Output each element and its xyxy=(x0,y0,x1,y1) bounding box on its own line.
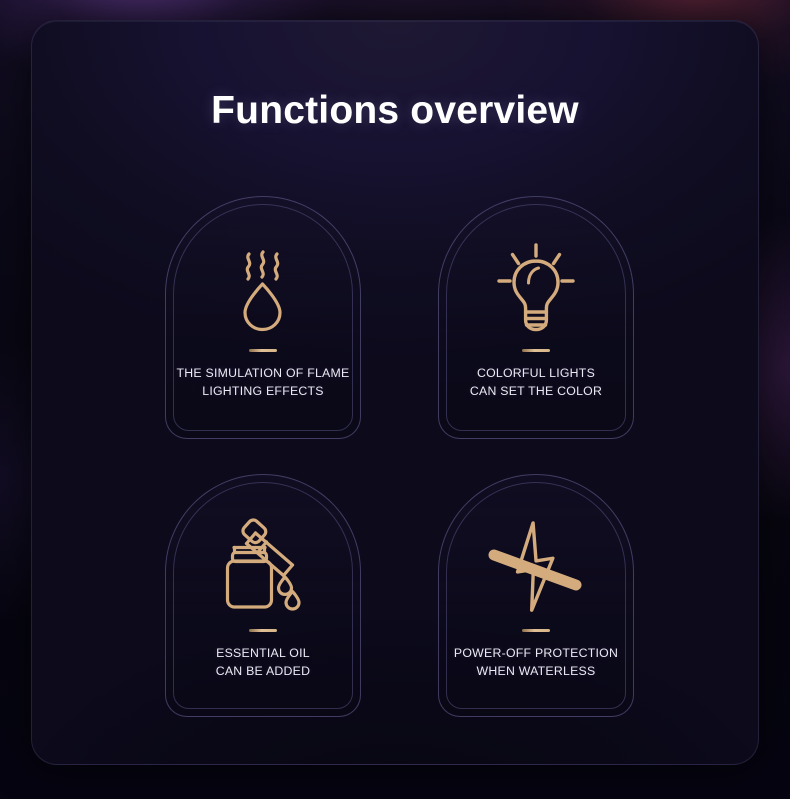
card-divider xyxy=(249,349,277,352)
function-card-flame-simulation[interactable]: THE SIMULATION OF FLAME LIGHTING EFFECTS xyxy=(165,196,361,439)
card-caption-line1: THE SIMULATION OF FLAME xyxy=(177,365,350,383)
page-root: Functions overview xyxy=(0,0,790,799)
function-card-power-off-protection[interactable]: POWER-OFF PROTECTION WHEN WATERLESS xyxy=(438,474,634,717)
oil-dropper-icon xyxy=(213,519,313,615)
functions-overview-panel: Functions overview xyxy=(31,20,759,765)
card-divider xyxy=(249,629,277,632)
card-caption-line2: CAN BE ADDED xyxy=(216,663,311,681)
card-caption: THE SIMULATION OF FLAME LIGHTING EFFECTS xyxy=(177,365,350,400)
card-caption-line1: COLORFUL LIGHTS xyxy=(470,365,602,383)
power-off-bolt-icon xyxy=(484,519,588,615)
function-card-essential-oil[interactable]: ESSENTIAL OIL CAN BE ADDED xyxy=(165,474,361,717)
card-caption-line2: LIGHTING EFFECTS xyxy=(177,383,350,401)
functions-card-grid: THE SIMULATION OF FLAME LIGHTING EFFECTS xyxy=(165,196,665,720)
card-divider xyxy=(522,629,550,632)
card-caption: POWER-OFF PROTECTION WHEN WATERLESS xyxy=(454,645,618,680)
card-caption: ESSENTIAL OIL CAN BE ADDED xyxy=(216,645,311,680)
card-caption-line1: POWER-OFF PROTECTION xyxy=(454,645,618,663)
card-caption-line2: CAN SET THE COLOR xyxy=(470,383,602,401)
page-title: Functions overview xyxy=(32,89,758,133)
card-divider xyxy=(522,349,550,352)
function-card-colorful-lights[interactable]: COLORFUL LIGHTS CAN SET THE COLOR xyxy=(438,196,634,439)
card-caption-line1: ESSENTIAL OIL xyxy=(216,645,311,663)
light-bulb-icon xyxy=(491,239,581,335)
flame-droplet-icon xyxy=(234,239,292,335)
card-caption: COLORFUL LIGHTS CAN SET THE COLOR xyxy=(470,365,602,400)
card-caption-line2: WHEN WATERLESS xyxy=(454,663,618,681)
